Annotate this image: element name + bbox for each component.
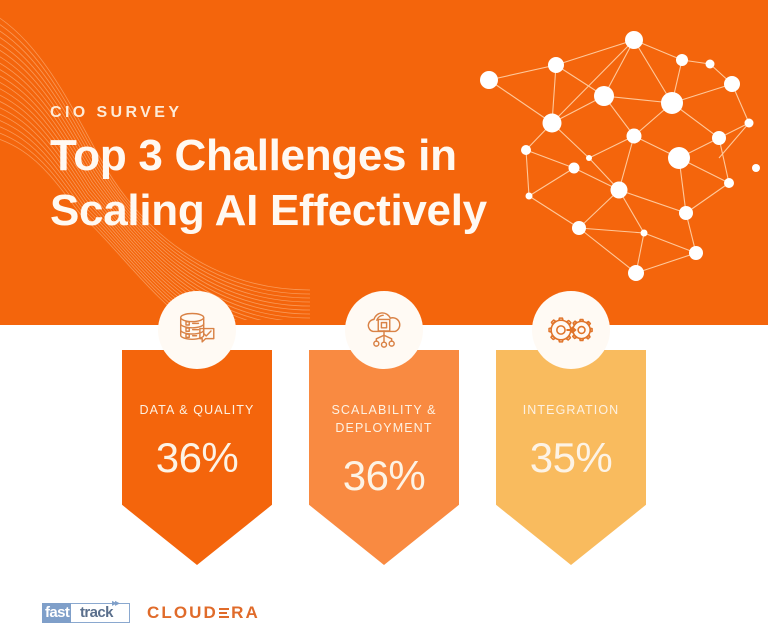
stat-label: INTEGRATION — [501, 402, 641, 420]
stat-banner-integration: INTEGRATION 35% — [496, 350, 646, 565]
stat-banner-scalability-deployment: SCALABILITY & DEPLOYMENT 36% — [309, 350, 459, 565]
stat-label: DATA & QUALITY — [127, 402, 267, 420]
database-check-icon — [174, 307, 220, 353]
cloudera-logo-text-after: RA — [231, 603, 260, 623]
page-title-line-1: Top 3 Challenges in — [50, 131, 457, 180]
page-title-line-2: Scaling AI Effectively — [50, 183, 570, 238]
fasttrack-logo-fast: fast — [42, 603, 71, 623]
footer-logos: fast track ▸▸ CLOUD RA — [42, 600, 260, 626]
fasttrack-logo-track: track — [80, 603, 113, 623]
stat-value: 36% — [343, 452, 426, 500]
fast-forward-icon: ▸▸ — [112, 598, 118, 609]
cloudera-logo-text-before: CLOUD — [147, 603, 218, 623]
icon-badge-data-quality — [158, 291, 236, 369]
page-title: Top 3 Challenges in Scaling AI Effective… — [50, 128, 570, 239]
stat-value: 36% — [156, 434, 239, 482]
icon-badge-integration — [532, 291, 610, 369]
cloud-chip-icon — [361, 307, 407, 353]
eyebrow-label: CIO SURVEY — [50, 104, 182, 122]
fasttrack-logo: fast track ▸▸ — [42, 600, 130, 626]
stat-label-line-2: DEPLOYMENT — [335, 421, 432, 435]
stat-banner-data-quality: DATA & QUALITY 36% — [122, 350, 272, 565]
cloudera-logo: CLOUD RA — [147, 603, 260, 623]
cloudera-stylized-e-icon — [219, 607, 229, 619]
gears-arrow-icon — [548, 307, 594, 353]
stat-label: SCALABILITY & DEPLOYMENT — [314, 402, 454, 438]
stat-value: 35% — [530, 434, 613, 482]
stat-banner-group: DATA & QUALITY 36% SCALABILITY & DEPLOYM… — [0, 350, 768, 565]
icon-badge-scalability-deployment — [345, 291, 423, 369]
stat-label-line-1: SCALABILITY & — [331, 403, 436, 417]
header-band: CIO SURVEY Top 3 Challenges in Scaling A… — [0, 0, 768, 325]
